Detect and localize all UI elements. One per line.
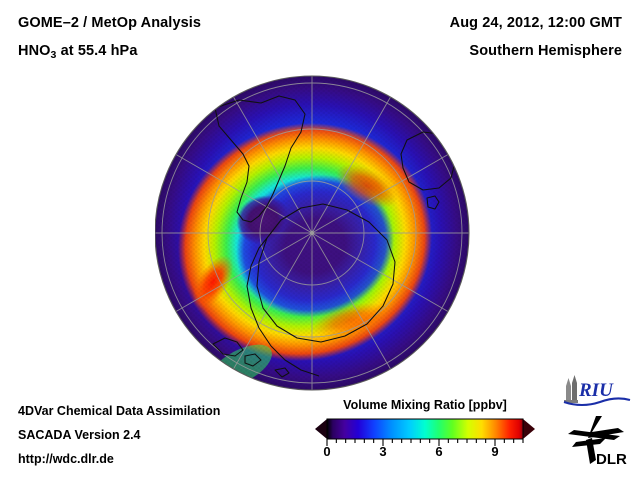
polar-projection-svg xyxy=(155,70,470,395)
riu-logo: RIU xyxy=(560,374,632,408)
colorbar-gradient xyxy=(327,419,523,439)
species-subscript: 3 xyxy=(51,49,57,61)
colorbar-tick-label: 3 xyxy=(379,444,386,459)
footer-url[interactable]: http://wdc.dlr.de xyxy=(18,452,114,466)
riu-towers-icon xyxy=(564,375,578,403)
colorbar-max-arrow xyxy=(523,419,535,439)
colorbar: Volume Mixing Ratio [ppbv] 0369 xyxy=(305,398,545,470)
colorbar-tick-label: 9 xyxy=(491,444,498,459)
colorbar-svg xyxy=(305,417,545,447)
colorbar-tick-label: 6 xyxy=(435,444,442,459)
dlr-wordmark: DLR xyxy=(596,451,627,468)
colorbar-tick-label: 0 xyxy=(323,444,330,459)
footer-version: SACADA Version 2.4 xyxy=(18,428,141,442)
species-level-label: HNO3 at 55.4 hPa xyxy=(18,43,137,59)
hemisphere-label: Southern Hemisphere xyxy=(469,43,622,59)
page-title: GOME–2 / MetOp Analysis xyxy=(18,15,201,31)
colorbar-title: Volume Mixing Ratio [ppbv] xyxy=(305,398,545,412)
riu-wordmark: RIU xyxy=(578,380,614,401)
colorbar-min-arrow xyxy=(315,419,327,439)
footer-method: 4DVar Chemical Data Assimilation xyxy=(18,404,220,418)
south-pole-marker xyxy=(310,231,314,235)
polar-map xyxy=(155,70,470,395)
date-time-label: Aug 24, 2012, 12:00 GMT xyxy=(450,15,622,31)
dlr-logo: DLR xyxy=(566,414,632,472)
pressure-level: at 55.4 hPa xyxy=(56,43,137,59)
species-name: HNO xyxy=(18,43,51,59)
